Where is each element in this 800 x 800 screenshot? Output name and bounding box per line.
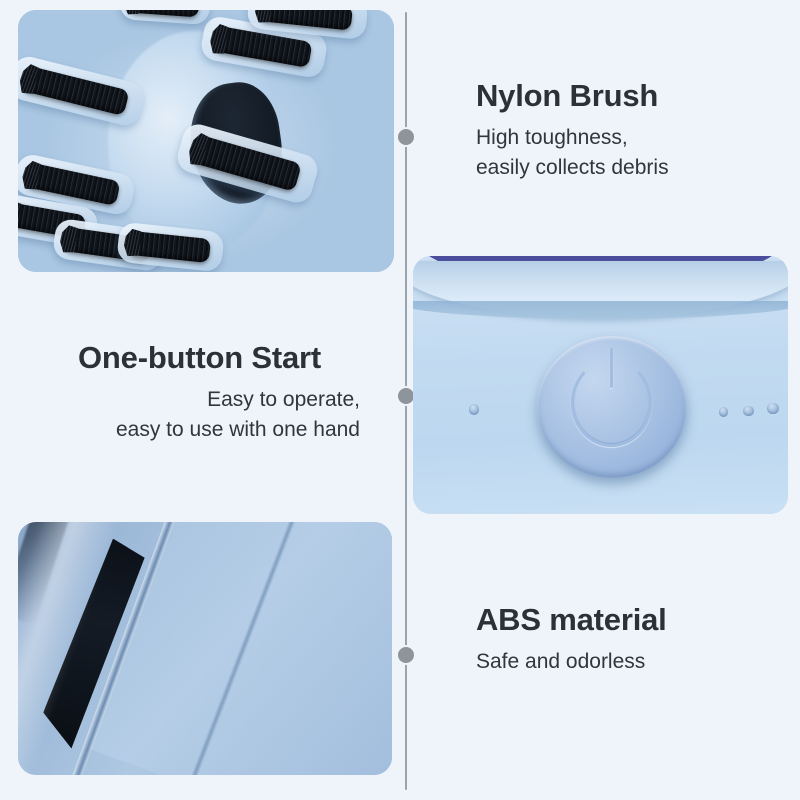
feature-image-one-button-start (413, 256, 788, 514)
feature-subtitle-line: easy to use with one hand (34, 415, 360, 446)
timeline-dot-abs-material (398, 647, 414, 663)
feature-image-nylon-brush (18, 10, 394, 272)
timeline-dot-one-button-start (398, 388, 414, 404)
indicator-dot (719, 407, 729, 417)
feature-subtitle-line: Easy to operate, (34, 385, 360, 416)
feature-image-abs-material (18, 522, 392, 775)
power-symbol-icon (571, 359, 652, 447)
bristle-tuft (130, 231, 211, 263)
feature-subtitle-line: easily collects debris (476, 153, 776, 184)
feature-text-one-button-start: One-button Start Easy to operate, easy t… (34, 340, 360, 446)
feature-text-nylon-brush: Nylon Brush High toughness, easily colle… (476, 78, 776, 184)
feature-subtitle-line: Safe and odorless (476, 647, 776, 678)
power-button[interactable] (537, 336, 687, 478)
feature-subtitle-one-button-start: Easy to operate, easy to use with one ha… (34, 385, 360, 446)
infographic-page: Nylon Brush High toughness, easily colle… (0, 0, 800, 800)
bristle-tuft (261, 10, 353, 30)
timeline-dot-nylon-brush (398, 129, 414, 145)
bristle-tuft (130, 10, 199, 18)
feature-subtitle-nylon-brush: High toughness, easily collects debris (476, 123, 776, 184)
feature-subtitle-abs-material: Safe and odorless (476, 647, 776, 678)
feature-heading-abs-material: ABS material (476, 602, 776, 639)
feature-text-abs-material: ABS material Safe and odorless (476, 602, 776, 677)
feature-subtitle-line: High toughness, (476, 123, 776, 154)
indicator-dot (743, 406, 754, 417)
indicator-dot (469, 404, 479, 414)
feature-heading-nylon-brush: Nylon Brush (476, 78, 776, 115)
feature-heading-one-button-start: One-button Start (34, 340, 360, 377)
